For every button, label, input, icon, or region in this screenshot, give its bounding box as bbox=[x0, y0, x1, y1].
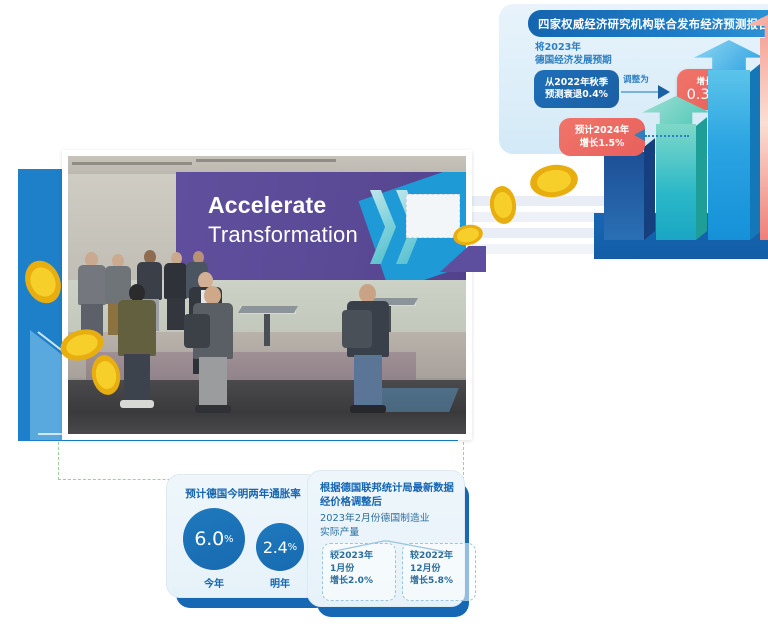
photo-kiosk-1 bbox=[240, 306, 296, 314]
photo-kiosk-1-stand bbox=[264, 314, 270, 346]
inflation-label-this-year: 今年 bbox=[183, 575, 245, 590]
forecast-2024-line1: 预计2024年 bbox=[575, 124, 629, 137]
photo-person-fg-backpack-1-shoes bbox=[195, 405, 231, 413]
production-card-subtitle: 2023年2月份德国制造业 实际产量 bbox=[320, 512, 462, 539]
photo-backpack-icon-1 bbox=[184, 314, 210, 348]
chart-bar-2-side bbox=[696, 117, 707, 240]
inflation-unit-this-year: % bbox=[224, 534, 234, 545]
inflation-card: 预计德国今明两年通胀率 6.0% 今年 2.4% 明年 bbox=[166, 474, 320, 598]
chart-bar-2-face bbox=[656, 124, 696, 240]
infographic-canvas: 四家权威经济研究机构联合发布经济预测报告 将2023年 德国经济发展预期 从20… bbox=[0, 0, 768, 639]
inflation-circle-this-year: 6.0% bbox=[183, 508, 245, 570]
production-subbox-2-line2: 12月份 bbox=[410, 563, 475, 576]
banner-text-transformation: Transformation bbox=[208, 222, 358, 248]
forecast-2024-connector bbox=[645, 135, 689, 137]
chart-bar-1-side bbox=[644, 138, 655, 240]
production-card: 根据德国联邦统计局最新数据 经价格调整后 2023年2月份德国制造业 实际产量 … bbox=[307, 470, 465, 607]
forecast-2024-connector-arrow bbox=[634, 129, 645, 141]
chart-bar-3 bbox=[708, 40, 750, 240]
chart-bar-4 bbox=[760, 8, 768, 240]
inflation-circle-next-year: 2.4% bbox=[256, 523, 304, 571]
photo-ceiling-bar-1 bbox=[72, 162, 192, 165]
production-card-title-line2: 经价格调整后 bbox=[320, 495, 460, 509]
inflation-value-this-year: 6.0 bbox=[194, 528, 224, 550]
inflation-card-title: 预计德国今明两年通胀率 bbox=[167, 486, 319, 501]
production-card-sub-line1: 2023年2月份德国制造业 bbox=[320, 512, 462, 526]
production-card-title-line1: 根据德国联邦统计局最新数据 bbox=[320, 481, 460, 495]
photo-person-fg-backpack-2-shoes bbox=[350, 405, 386, 413]
photo-ceiling-bar-2 bbox=[196, 159, 336, 162]
production-subbox-1-line2: 1月份 bbox=[330, 563, 395, 576]
chart-bar-1 bbox=[604, 142, 644, 240]
coin-icon-6 bbox=[528, 162, 580, 200]
inflation-label-next-year: 明年 bbox=[256, 575, 304, 590]
photo-white-patch bbox=[406, 194, 460, 238]
photo-person-fg-green-jacket-shoes bbox=[120, 400, 154, 408]
chart-bar-1-face bbox=[604, 152, 644, 240]
production-card-title: 根据德国联邦统计局最新数据 经价格调整后 bbox=[320, 481, 460, 509]
chart-bar-3-face bbox=[708, 70, 750, 240]
chart-bar-3-arrowhead bbox=[694, 40, 764, 72]
chart-bar-4-arrowhead bbox=[746, 8, 768, 40]
forecast-2024-box: 预计2024年 增长1.5% bbox=[559, 118, 645, 156]
production-card-brace bbox=[326, 539, 450, 553]
photo-backpack-icon-2 bbox=[342, 310, 372, 348]
inflation-unit-next-year: % bbox=[288, 542, 298, 553]
chart-bar-4-face bbox=[760, 38, 768, 240]
inflation-value-next-year: 2.4 bbox=[263, 538, 288, 557]
forecast-2024-line2: 增长1.5% bbox=[580, 137, 625, 150]
chart-bar-2 bbox=[656, 96, 696, 240]
production-subbox-2-line3: 增长5.8% bbox=[410, 575, 475, 588]
tradeshow-photo: Accelerate Transformation bbox=[68, 156, 466, 434]
production-subbox-1-line3: 增长2.0% bbox=[330, 575, 395, 588]
photo-banner: Accelerate Transformation bbox=[176, 172, 466, 280]
banner-text-accelerate: Accelerate bbox=[208, 192, 326, 219]
production-card-sub-line2: 实际产量 bbox=[320, 526, 462, 540]
